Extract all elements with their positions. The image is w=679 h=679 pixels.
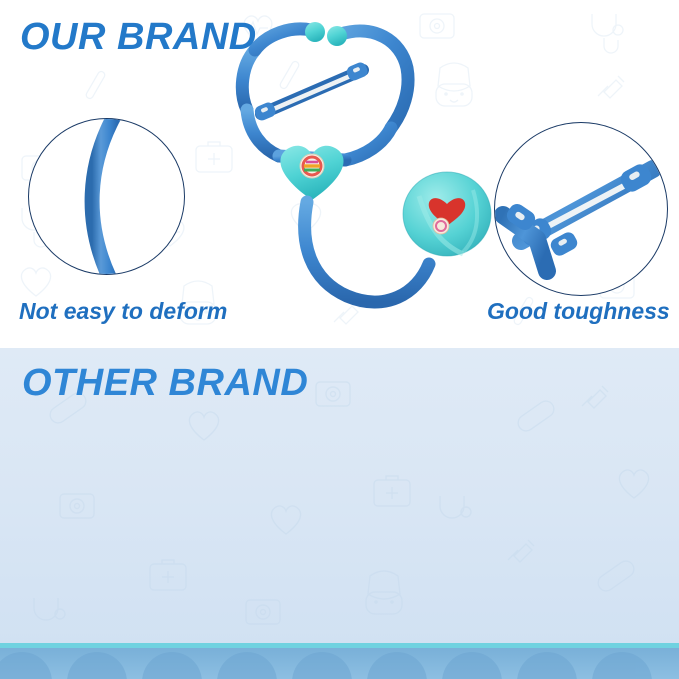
other-brand-heading: OTHER BRAND	[22, 362, 308, 405]
product-comparison-infographic: OUR BRAND	[0, 0, 679, 679]
caption-good-toughness: Good toughness	[487, 298, 670, 325]
caption-not-easy-to-deform: Not easy to deform	[19, 298, 227, 325]
our-brand-heading: OUR BRAND	[20, 16, 257, 59]
footer-decoration	[0, 643, 679, 679]
footer-scallop-band	[0, 648, 679, 679]
other-brand-section: OTHER BRAND	[0, 348, 679, 679]
callout-not-easy-to-deform	[28, 118, 185, 275]
our-brand-section: OUR BRAND	[0, 0, 679, 348]
callout-good-toughness	[494, 122, 668, 296]
